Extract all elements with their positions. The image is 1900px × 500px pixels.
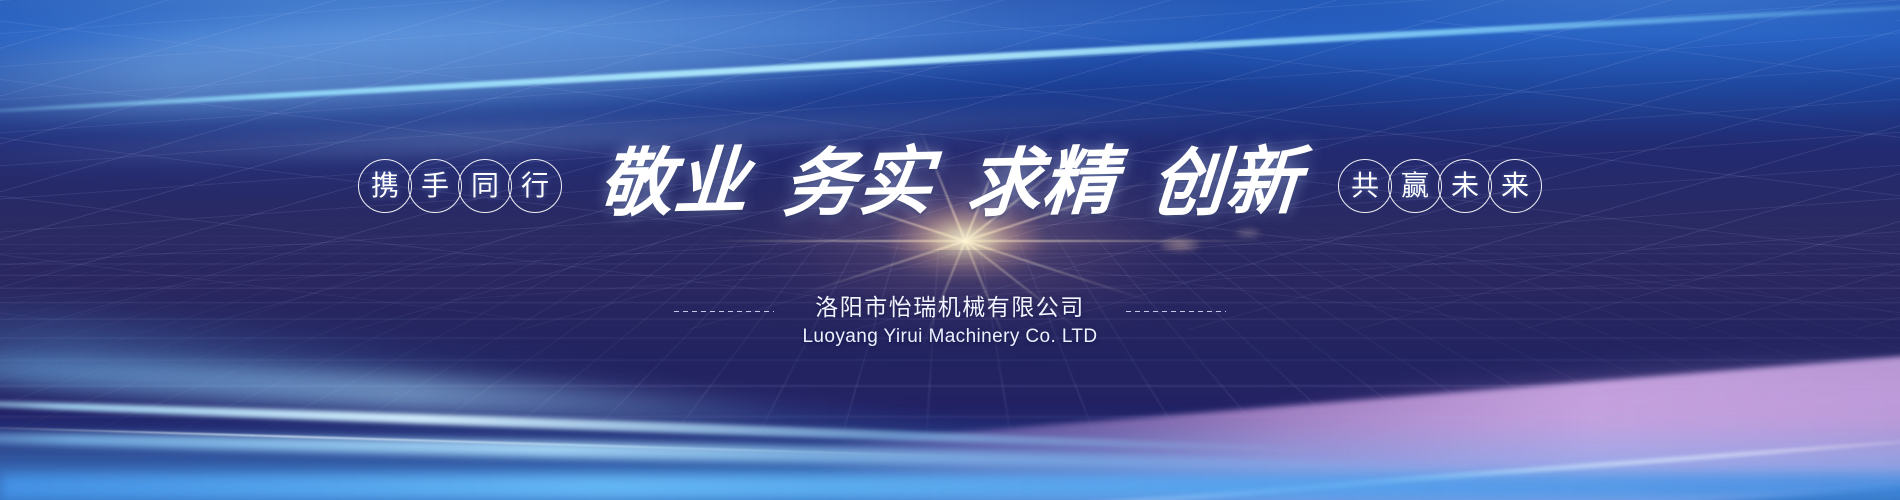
slogan-word-qiujing: 求精 xyxy=(964,144,1119,221)
slogan-word-jingye: 敬业 xyxy=(596,144,751,221)
slogan-row: 携 手 同 行 敬业 务实 求精 创新 共 赢 未 来 xyxy=(0,138,1900,234)
circle-char-xing: 行 xyxy=(508,159,562,213)
subtitle-block: 洛阳市怡瑞机械有限公司 Luoyang Yirui Machinery Co. … xyxy=(0,292,1900,352)
banner-content: 携 手 同 行 敬业 务实 求精 创新 共 赢 未 来 洛阳市怡瑞机械有限公司 xyxy=(0,0,1900,500)
left-circle-group: 携 手 同 行 xyxy=(360,159,560,213)
circle-char-lai: 来 xyxy=(1488,159,1542,213)
company-name: 洛阳市怡瑞机械有限公司 Luoyang Yirui Machinery Co. … xyxy=(802,292,1097,352)
circle-char-wei: 未 xyxy=(1438,159,1492,213)
company-name-english: Luoyang Yirui Machinery Co. LTD xyxy=(802,323,1097,352)
main-slogan: 敬业 务实 求精 创新 xyxy=(582,146,1318,226)
right-circle-group: 共 赢 未 来 xyxy=(1340,159,1540,213)
slogan-word-wushi: 务实 xyxy=(780,144,935,221)
circle-char-shou: 手 xyxy=(408,159,462,213)
circle-char-tong: 同 xyxy=(458,159,512,213)
company-name-chinese: 洛阳市怡瑞机械有限公司 xyxy=(802,292,1097,323)
company-slogan-banner: 携 手 同 行 敬业 务实 求精 创新 共 赢 未 来 洛阳市怡瑞机械有限公司 xyxy=(0,0,1900,500)
dashed-rule-right xyxy=(1126,311,1226,312)
circle-char-gong: 共 xyxy=(1338,159,1392,213)
circle-char-xie: 携 xyxy=(358,159,412,213)
circle-char-ying: 赢 xyxy=(1388,159,1442,213)
slogan-word-chuangxin: 创新 xyxy=(1148,144,1303,221)
dashed-rule-left xyxy=(674,311,774,312)
